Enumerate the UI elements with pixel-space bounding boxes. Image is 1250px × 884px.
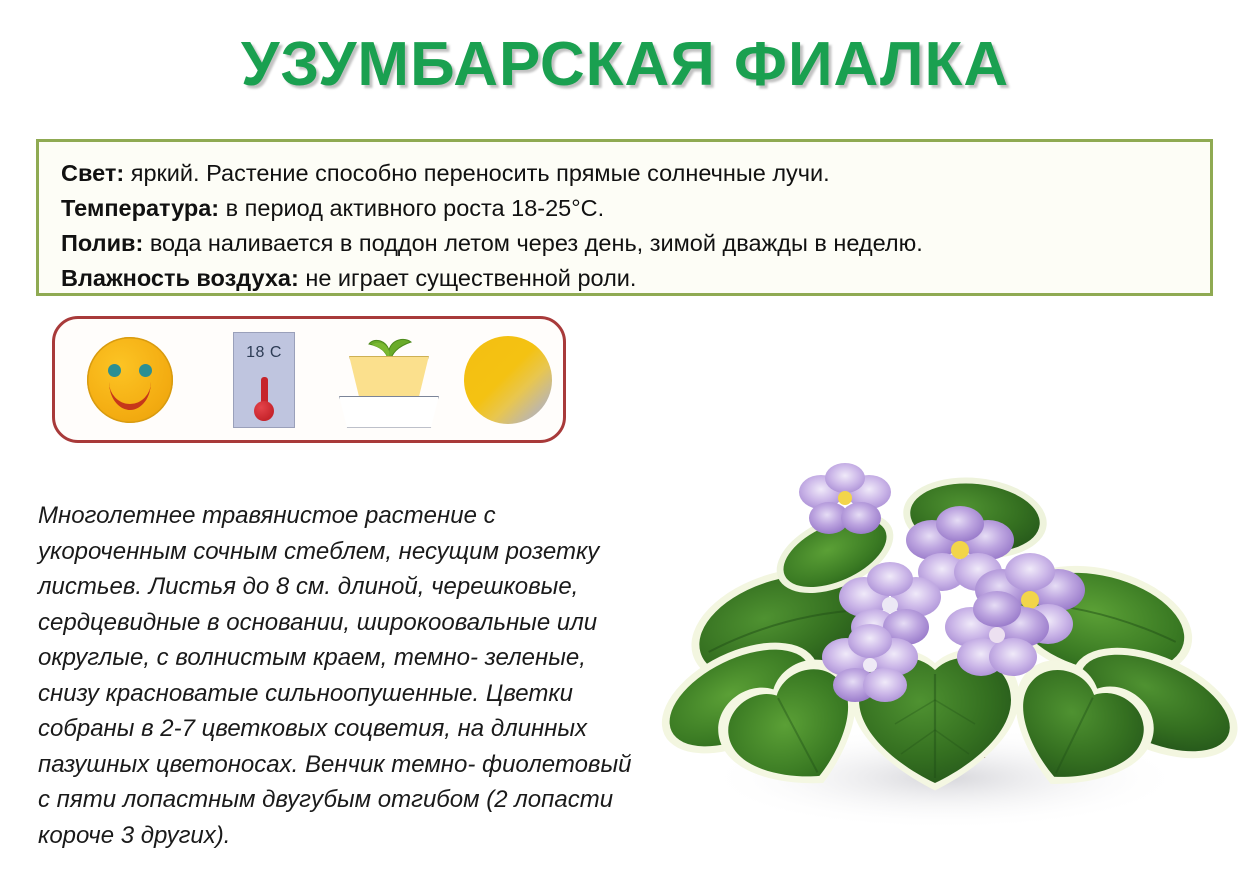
water-tray-shape (339, 396, 439, 428)
flower-pot-shape (349, 356, 429, 402)
care-row-humidity: Влажность воздуха: не играет существенно… (61, 261, 1190, 296)
thermometer-icon: 18 C (233, 332, 295, 428)
care-icon-strip: 18 C (52, 316, 566, 443)
care-label-light: Свет: (61, 160, 124, 186)
plant-description: Многолетнее травянистое растение с укоро… (38, 498, 638, 853)
care-label-watering: Полив: (61, 230, 143, 256)
care-row-temperature: Температура: в период активного роста 18… (61, 191, 1190, 226)
icon-cell-watering (323, 319, 453, 440)
pot-in-tray-icon (335, 334, 441, 426)
smiley-eye-right-icon (139, 364, 152, 377)
care-value-humidity: не играет существенной роли. (299, 265, 637, 291)
care-info-box: Свет: яркий. Растение способно переносит… (36, 139, 1213, 296)
care-label-humidity: Влажность воздуха: (61, 265, 299, 291)
care-value-watering: вода наливается в поддон летом через ден… (143, 230, 922, 256)
icon-cell-humidity (453, 319, 563, 440)
care-label-temperature: Температура: (61, 195, 219, 221)
smiley-mouth-icon (109, 382, 151, 410)
sun-circle-icon (464, 336, 552, 424)
thermometer-label: 18 C (234, 344, 294, 362)
smiley-face-icon (87, 337, 173, 423)
care-row-light: Свет: яркий. Растение способно переносит… (61, 156, 1190, 191)
icon-cell-light (55, 319, 205, 440)
care-value-temperature: в период активного роста 18-25°C. (219, 195, 604, 221)
thermometer-bulb-icon (254, 401, 274, 421)
african-violet-photo (645, 448, 1245, 868)
care-value-light: яркий. Растение способно переносить прям… (124, 160, 829, 186)
icon-cell-temperature: 18 C (205, 319, 323, 440)
care-row-watering: Полив: вода наливается в поддон летом че… (61, 226, 1190, 261)
african-violet-illustration (645, 448, 1245, 868)
smiley-eye-left-icon (108, 364, 121, 377)
page-title: УЗУМБАРСКАЯ ФИАЛКА (0, 34, 1250, 96)
